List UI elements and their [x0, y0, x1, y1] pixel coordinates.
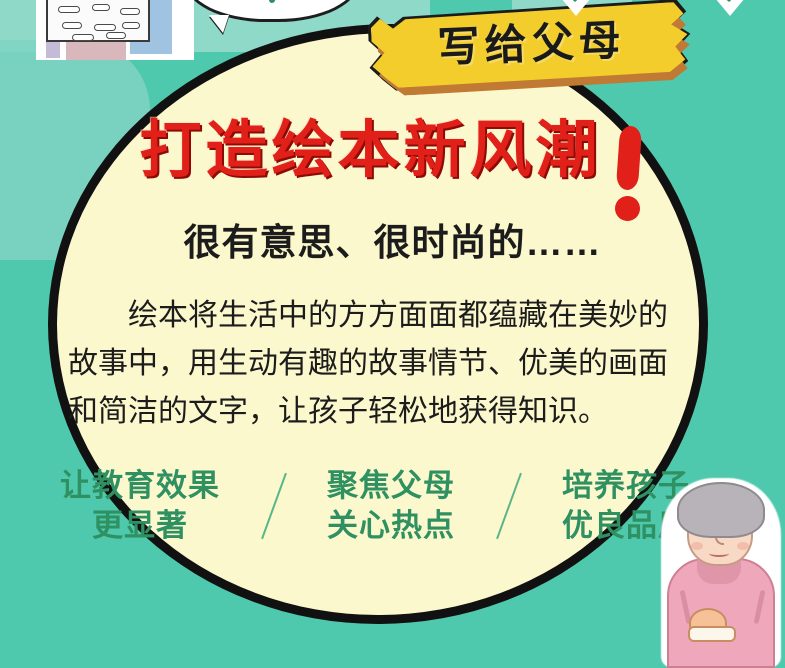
speech-bubble-tail	[209, 15, 229, 33]
feature-item-1: 让教育效果 更显著	[60, 466, 220, 546]
feature-1-line-2: 更显著	[60, 506, 220, 546]
feature-item-2: 聚焦父母 关心热点	[327, 466, 455, 546]
feature-list: 让教育效果 更显著 聚焦父母 关心热点 培养孩子 优良品质	[60, 466, 690, 546]
feature-separator-2	[494, 469, 524, 543]
page-title: 打造绘本新风潮	[139, 118, 601, 183]
pennant-icon-right	[700, 0, 760, 16]
pennant-leaf-icon	[720, 0, 738, 2]
feature-2-line-2: 关心热点	[327, 506, 455, 546]
pennant-leaf-icon	[566, 0, 584, 2]
subtitle: 很有意思、很时尚的……	[0, 212, 785, 266]
body-line-2: 故事中，用生动有趣的故事情节、优美的画面	[68, 340, 718, 388]
exclamation-bar	[615, 125, 641, 190]
grandmother-bun-icon	[689, 608, 727, 638]
body-line-1: 绘本将生活中的方方面面都蕴藏在美妙的	[68, 292, 718, 340]
body-line-3: 和简洁的文字，让孩子轻松地获得知识。	[68, 388, 718, 436]
body-paragraph: 绘本将生活中的方方面面都蕴藏在美妙的 故事中，用生动有趣的故事情节、优美的画面 …	[68, 292, 718, 436]
feature-2-line-1: 聚焦父母	[327, 466, 455, 506]
grandmother-hair	[677, 482, 765, 538]
poster-canvas: 写给父母 打造绘本新风潮 很有意思、很时尚的…… 绘本将生活中的方方面面都蕴藏在…	[0, 0, 785, 668]
headline-row: 打造绘本新风潮	[0, 118, 785, 222]
grandmother-illustration	[661, 478, 781, 668]
feature-1-line-1: 让教育效果	[60, 466, 220, 506]
grandmother-cheek-right	[737, 542, 749, 550]
illustration-menu-board	[46, 0, 150, 42]
grandmother-mouth	[709, 550, 729, 557]
green-swoosh-icon	[268, 0, 326, 6]
grandmother-cheek-left	[691, 542, 703, 550]
banner-written-for-parents: 写给父母	[370, 1, 697, 102]
person-at-board-illustration	[36, 0, 196, 64]
banner-label: 写给父母	[437, 19, 627, 69]
feature-separator-1	[259, 469, 289, 543]
exclamation-mark-icon	[612, 118, 646, 222]
